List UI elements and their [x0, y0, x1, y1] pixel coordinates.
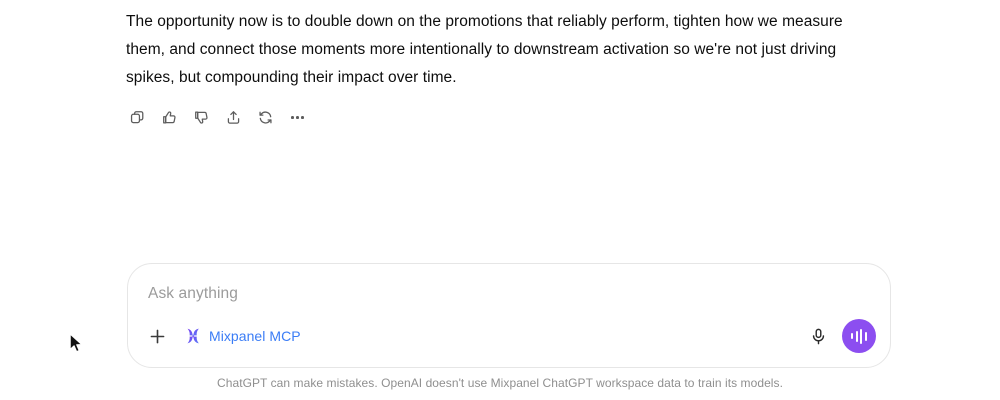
- share-icon[interactable]: [220, 104, 247, 131]
- microphone-icon[interactable]: [803, 321, 833, 351]
- voice-mode-button[interactable]: [842, 319, 876, 353]
- ellipsis-glyph: [291, 116, 304, 119]
- mixpanel-mcp-connector[interactable]: Mixpanel MCP: [184, 327, 301, 345]
- add-attachment-button[interactable]: [144, 323, 170, 349]
- more-options-icon[interactable]: [284, 104, 311, 131]
- prompt-composer[interactable]: Ask anything Mixpanel MCP: [127, 263, 891, 368]
- regenerate-icon[interactable]: [252, 104, 279, 131]
- thumbs-up-icon[interactable]: [156, 104, 183, 131]
- thumbs-down-icon[interactable]: [188, 104, 215, 131]
- mouse-cursor: [69, 333, 85, 355]
- composer-toolbar: Mixpanel MCP: [128, 314, 890, 358]
- assistant-message-text: The opportunity now is to double down on…: [126, 8, 882, 92]
- message-action-toolbar: [124, 104, 311, 131]
- mixpanel-mcp-label: Mixpanel MCP: [209, 328, 301, 344]
- copy-icon[interactable]: [124, 104, 151, 131]
- prompt-input[interactable]: Ask anything: [148, 283, 870, 305]
- mixpanel-logo-icon: [184, 327, 202, 345]
- assistant-message: The opportunity now is to double down on…: [126, 8, 882, 92]
- disclaimer-text: ChatGPT can make mistakes. OpenAI doesn'…: [0, 376, 1000, 390]
- waveform-icon: [851, 328, 867, 344]
